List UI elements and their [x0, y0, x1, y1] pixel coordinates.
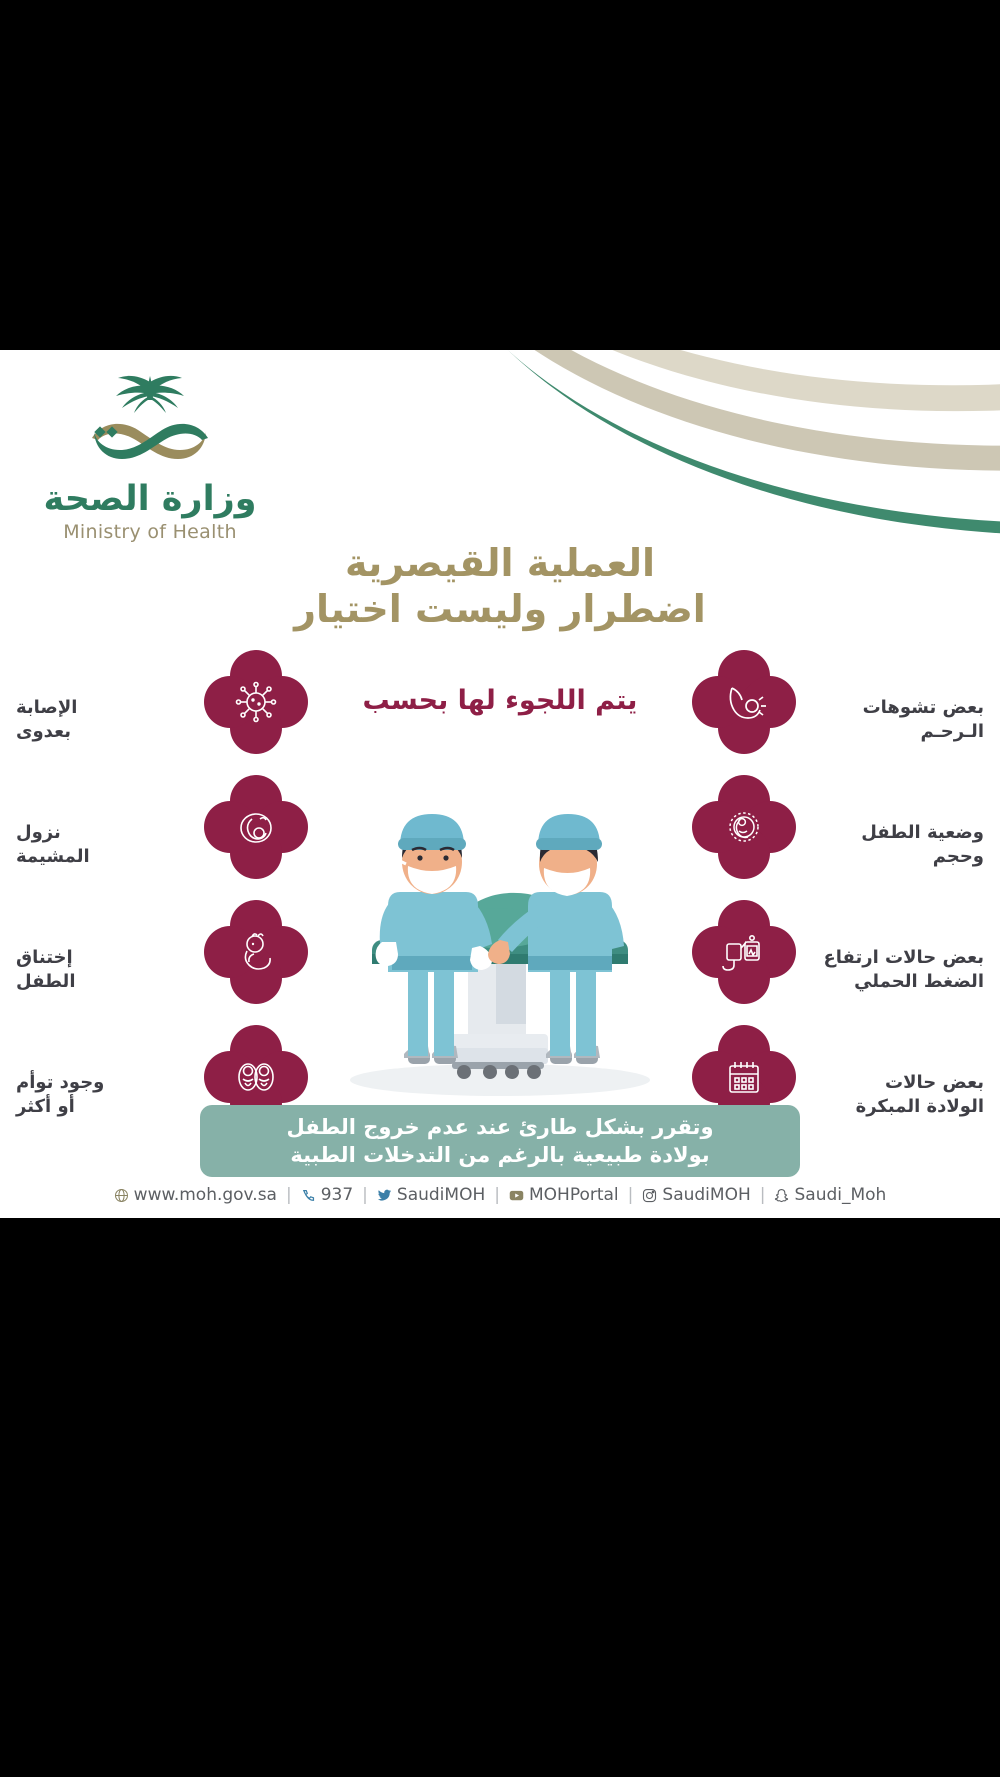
footer-item-website[interactable]: www.moh.gov.sa	[105, 1185, 286, 1205]
reason-item-uterus-deformity[interactable]: بعض تشوهات الـرحـم	[682, 650, 982, 775]
banner-line-2: بولادة طبيعية بالرغم من التدخلات الطبية	[287, 1141, 714, 1169]
reason-item-baby-asphyxia[interactable]: إختناق الطفل	[18, 900, 318, 1025]
decorative-swoosh-mask-2	[388, 350, 1000, 525]
screenshot-stage: وزارة الصحة Ministry of Health العملية ا…	[0, 0, 1000, 1777]
snapchat-icon	[774, 1188, 789, 1203]
footer-text: SaudiMOH	[397, 1185, 485, 1205]
reason-label: إختناق الطفل	[16, 946, 196, 994]
baby-icon	[204, 900, 308, 1004]
reason-label: بعض تشوهات الـرحـم	[804, 696, 984, 744]
footer-text: www.moh.gov.sa	[134, 1185, 277, 1205]
headline-line-1: العملية القيصرية	[0, 540, 1000, 586]
reason-label: وضعية الطفل وحجم	[804, 821, 984, 869]
footer-item-phone[interactable]: 937	[292, 1185, 362, 1205]
instagram-icon	[642, 1188, 657, 1203]
contact-footer: www.moh.gov.sa | 937 | SaudiMOH |	[0, 1180, 1000, 1210]
decorative-swoosh-beige	[377, 350, 1000, 551]
footer-text: MOHPortal	[529, 1185, 619, 1205]
footer-text: 937	[321, 1185, 353, 1205]
twitter-icon	[377, 1188, 392, 1203]
blood-pressure-icon	[692, 900, 796, 1004]
ministry-name-ar: وزارة الصحة	[40, 479, 260, 519]
reason-item-virus[interactable]: الإصابة بعدوى	[18, 650, 318, 775]
virus-icon	[204, 650, 308, 754]
footer-item-instagram[interactable]: SaudiMOH	[633, 1185, 759, 1205]
uterus-deformity-icon	[692, 650, 796, 754]
reason-label: الإصابة بعدوى	[16, 696, 196, 744]
fetus-position-icon	[692, 775, 796, 879]
infographic-poster: وزارة الصحة Ministry of Health العملية ا…	[0, 350, 1000, 1218]
emergency-note-banner: وتقرر بشكل طارئ عند عدم خروج الطفل بولاد…	[200, 1105, 800, 1177]
reason-label: وجود توأم أو أكثر	[16, 1071, 196, 1119]
decorative-swoosh-beige-2	[376, 350, 1000, 497]
youtube-icon	[509, 1188, 524, 1203]
page-title: العملية القيصرية اضطرار وليست اختيار	[0, 540, 1000, 633]
footer-item-snapchat[interactable]: Saudi_Moh	[765, 1185, 895, 1205]
footer-text: Saudi_Moh	[794, 1185, 886, 1205]
reason-label: بعض حالات الولادة المبكرة	[804, 1071, 984, 1119]
footer-item-youtube[interactable]: MOHPortal	[500, 1185, 628, 1205]
ministry-logo-block: وزارة الصحة Ministry of Health	[40, 368, 260, 543]
reason-item-blood-pressure[interactable]: بعض حالات ارتفاع الضغط الحملي	[682, 900, 982, 1025]
footer-text: SaudiMOH	[662, 1185, 750, 1205]
footer-item-twitter[interactable]: SaudiMOH	[368, 1185, 494, 1205]
phone-icon	[301, 1188, 316, 1203]
two-surgeons-operating-table-illustration	[300, 750, 700, 1110]
moh-palm-swords-logo-icon	[70, 368, 230, 483]
reason-item-fetus-position[interactable]: وضعية الطفل وحجم	[682, 775, 982, 900]
banner-line-1: وتقرر بشكل طارئ عند عدم خروج الطفل	[287, 1113, 714, 1141]
globe-icon	[114, 1188, 129, 1203]
reason-label: نزول المشيمة	[16, 821, 196, 869]
decorative-swoosh-mask-3	[387, 350, 1000, 469]
placenta-icon	[204, 775, 308, 879]
reason-item-placenta[interactable]: نزول المشيمة	[18, 775, 318, 900]
reason-label: بعض حالات ارتفاع الضغط الحملي	[804, 946, 984, 994]
headline-line-2: اضطرار وليست اختيار	[0, 586, 1000, 632]
